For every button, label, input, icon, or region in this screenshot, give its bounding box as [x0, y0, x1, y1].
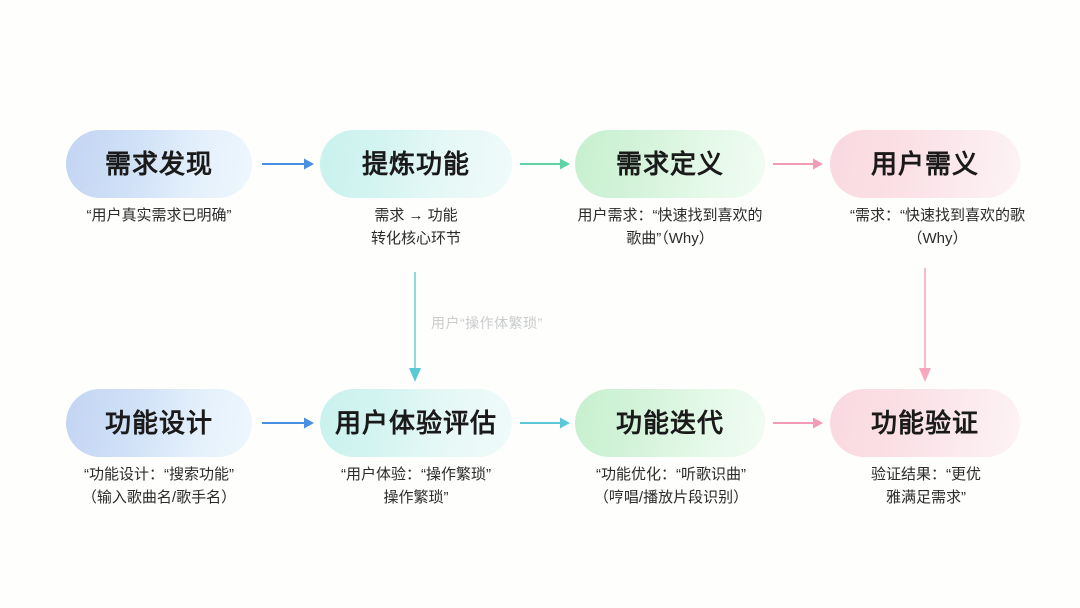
node-label: 需求定义: [616, 151, 724, 177]
arrow-refine-to-definition: [520, 157, 570, 171]
caption-function-design: “功能设计：“搜索功能” （输入歌曲名/歌手名）: [38, 463, 280, 510]
node-label: 功能迭代: [616, 410, 724, 436]
node-function-design[interactable]: 功能设计: [66, 389, 252, 457]
node-function-iteration[interactable]: 功能迭代: [575, 389, 765, 457]
caption-function-validation: 验证结果：“更优 雅满足需求”: [812, 463, 1040, 510]
node-label: 用户需义: [871, 151, 979, 177]
arrow-refine-to-ux: [407, 272, 423, 382]
node-user-need[interactable]: 用户需义: [830, 130, 1020, 198]
caption-demand-discovery: “用户真实需求已明确”: [44, 204, 274, 227]
node-ux-evaluation[interactable]: 用户体验评估: [320, 389, 512, 457]
node-label: 功能设计: [105, 410, 213, 436]
node-label: 功能验证: [871, 410, 979, 436]
caption-function-iteration: “功能优化：“听歌识曲” （哼唱/播放片段识别）: [550, 463, 792, 510]
arrow-need-to-validation: [917, 268, 933, 382]
caption-user-need: “需求：“快速找到喜欢的歌 （Why）: [810, 204, 1065, 251]
node-demand-discovery[interactable]: 需求发现: [66, 130, 252, 198]
node-refine-function[interactable]: 提炼功能: [320, 130, 512, 198]
arrow-iteration-to-validation: [773, 416, 823, 430]
node-label: 提炼功能: [362, 151, 470, 177]
arrow-definition-to-need: [773, 157, 823, 171]
node-label: 用户体验评估: [335, 410, 497, 436]
node-function-validation[interactable]: 功能验证: [830, 389, 1020, 457]
arrow-ux-to-iteration: [520, 416, 570, 430]
arrow-design-to-ux: [262, 416, 314, 430]
caption-ux-evaluation: “用户体验：“操作繁琐” 操作繁琐”: [296, 463, 536, 510]
node-demand-definition[interactable]: 需求定义: [575, 130, 765, 198]
caption-refine-function: 需求 → 功能 转化核心环节: [301, 204, 531, 251]
node-label: 需求发现: [105, 151, 213, 177]
vertical-arrow-label: 用户“操作体繁琐”: [431, 313, 543, 333]
caption-demand-definition: 用户需求：“快速找到喜欢的 歌曲”（Why）: [545, 204, 795, 251]
arrow-discovery-to-refine: [262, 157, 314, 171]
diagram-canvas: 需求发现 “用户真实需求已明确” 提炼功能 需求 → 功能 转化核心环节 需求定…: [0, 0, 1080, 608]
